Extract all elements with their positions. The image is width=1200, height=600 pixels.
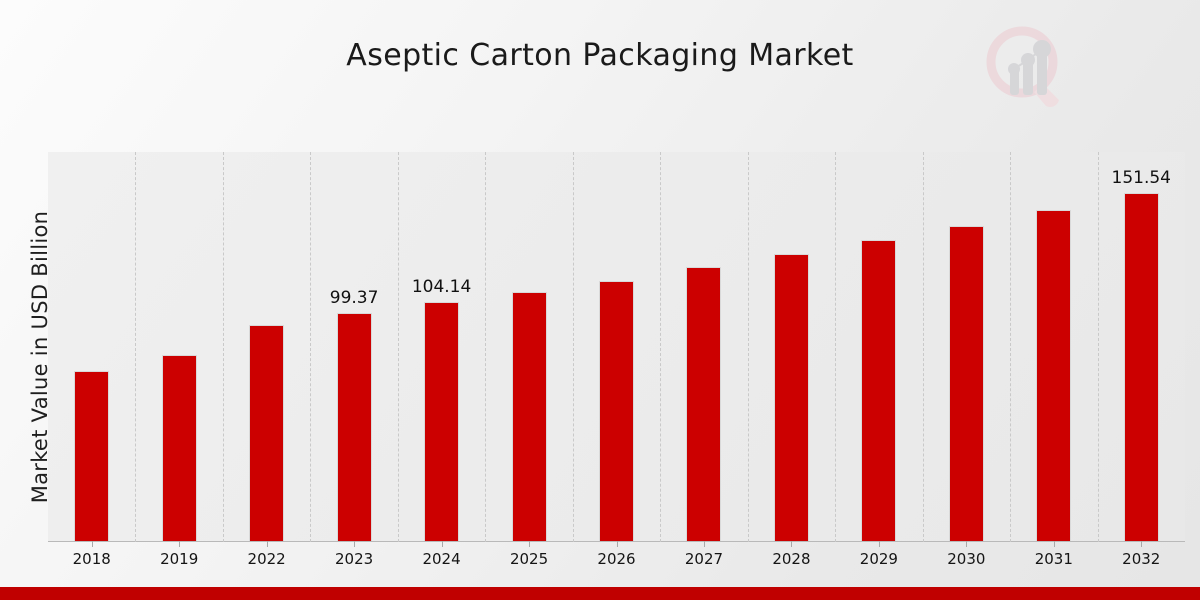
gridline bbox=[310, 152, 311, 542]
gridline bbox=[398, 152, 399, 542]
chart-page: Aseptic Carton Packaging Market Market V… bbox=[0, 0, 1200, 600]
x-axis-tick bbox=[529, 541, 530, 547]
x-axis-tick bbox=[966, 541, 967, 547]
logo-svg bbox=[980, 22, 1072, 114]
x-axis-tick bbox=[179, 541, 180, 547]
magnifying-glass-bar-chart-logo bbox=[980, 22, 1072, 114]
x-axis-tick-label: 2027 bbox=[664, 550, 744, 568]
x-axis-tick-label: 2031 bbox=[1014, 550, 1094, 568]
x-axis-tick bbox=[791, 541, 792, 547]
bar bbox=[424, 302, 459, 541]
bar bbox=[949, 226, 984, 541]
gridline bbox=[835, 152, 836, 542]
x-axis-tick-label: 2025 bbox=[489, 550, 569, 568]
gridline bbox=[1010, 152, 1011, 542]
gridline bbox=[135, 152, 136, 542]
x-axis-tick-label: 2028 bbox=[751, 550, 831, 568]
bar bbox=[162, 355, 197, 541]
x-axis-tick-label: 2026 bbox=[577, 550, 657, 568]
x-axis-tick bbox=[617, 541, 618, 547]
bar bbox=[249, 325, 284, 541]
x-axis-tick-label: 2022 bbox=[227, 550, 307, 568]
bar bbox=[861, 240, 896, 541]
bar-value-label: 151.54 bbox=[1086, 168, 1196, 188]
x-axis-tick bbox=[704, 541, 705, 547]
gridline bbox=[748, 152, 749, 542]
x-axis-tick bbox=[1054, 541, 1055, 547]
bar bbox=[774, 254, 809, 541]
bar bbox=[1124, 193, 1159, 541]
x-axis-tick-label: 2019 bbox=[139, 550, 219, 568]
x-axis-tick-label: 2029 bbox=[839, 550, 919, 568]
x-axis-tick-label: 2018 bbox=[52, 550, 132, 568]
x-axis-tick bbox=[1141, 541, 1142, 547]
footer-accent-bar bbox=[0, 587, 1200, 600]
x-axis-tick bbox=[92, 541, 93, 547]
gridline bbox=[923, 152, 924, 542]
x-axis-tick bbox=[442, 541, 443, 547]
gridline bbox=[573, 152, 574, 542]
x-axis-tick bbox=[354, 541, 355, 547]
gridline bbox=[660, 152, 661, 542]
bar bbox=[337, 313, 372, 541]
bar-value-label: 104.14 bbox=[387, 277, 497, 297]
x-axis-tick-label: 2032 bbox=[1101, 550, 1181, 568]
x-axis-tick bbox=[879, 541, 880, 547]
bar bbox=[686, 267, 721, 541]
x-axis-tick-label: 2024 bbox=[402, 550, 482, 568]
bar bbox=[74, 371, 109, 541]
bar bbox=[512, 292, 547, 541]
x-axis-tick-label: 2030 bbox=[926, 550, 1006, 568]
bar bbox=[1036, 210, 1071, 541]
gridline bbox=[223, 152, 224, 542]
gridline bbox=[1098, 152, 1099, 542]
x-axis-tick-label: 2023 bbox=[314, 550, 394, 568]
x-axis-tick bbox=[267, 541, 268, 547]
bar bbox=[599, 281, 634, 541]
gridline bbox=[485, 152, 486, 542]
